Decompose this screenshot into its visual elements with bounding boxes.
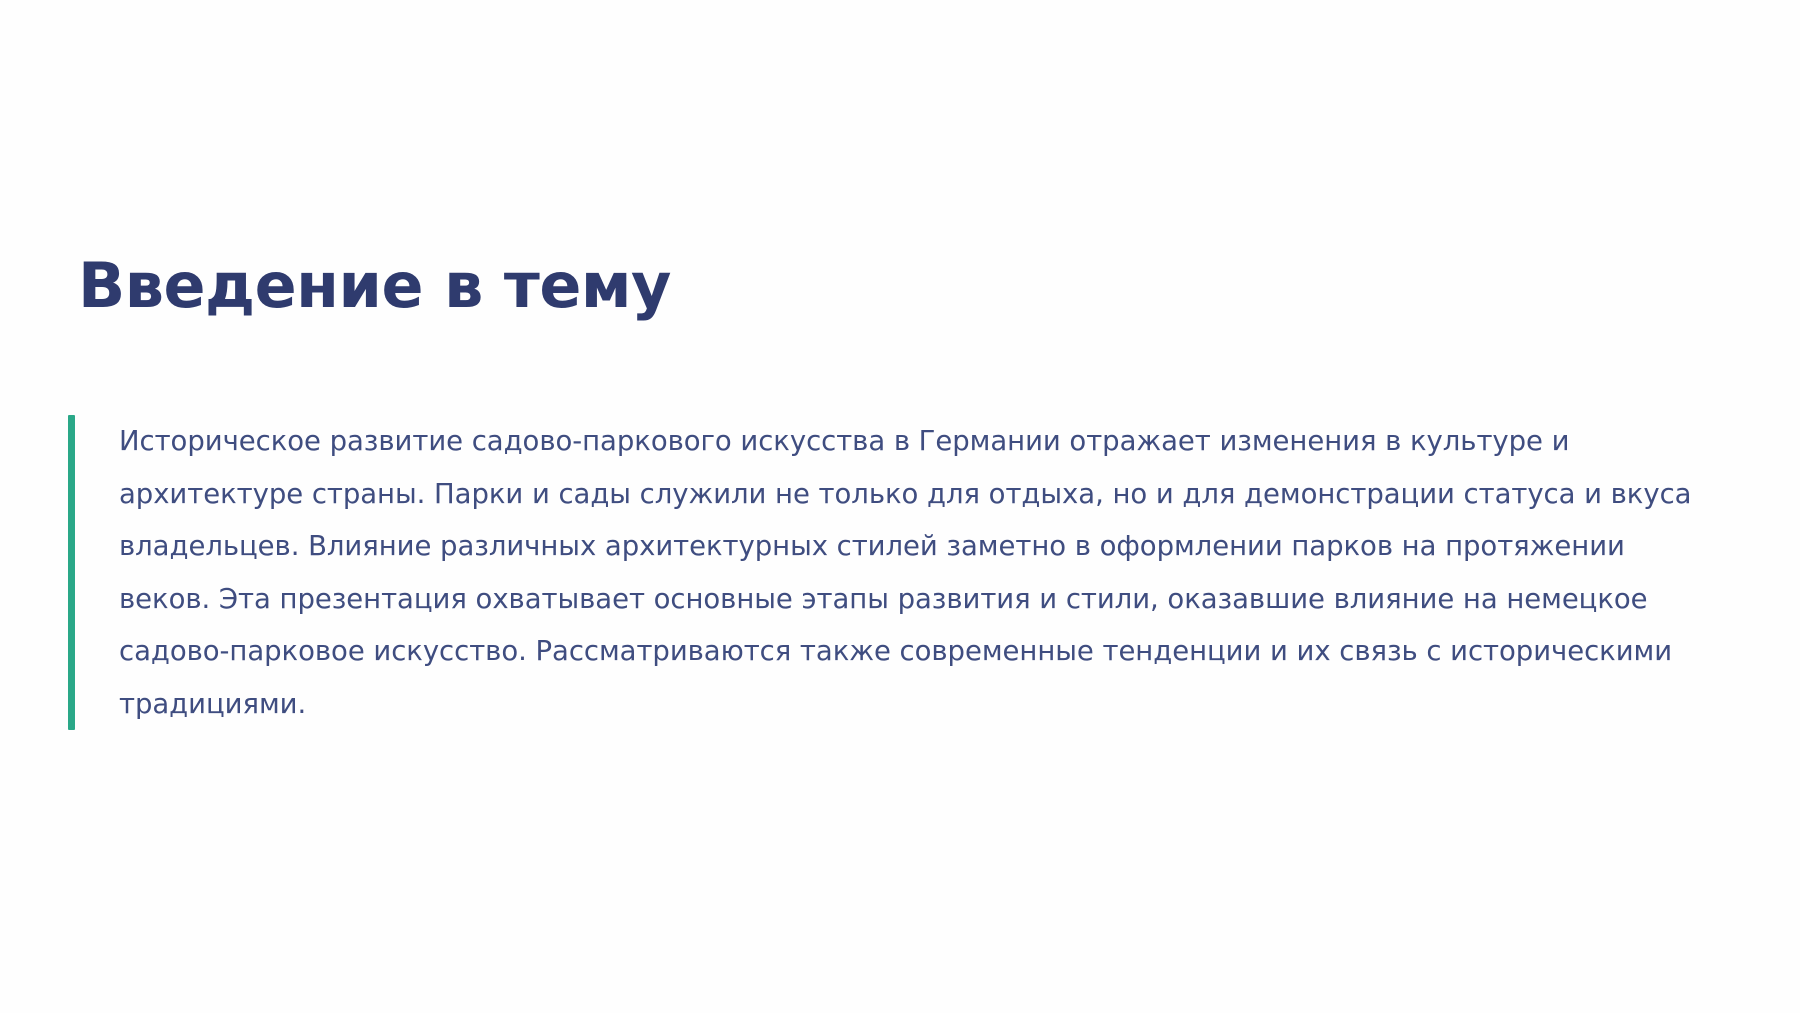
- accent-bar: [68, 415, 75, 730]
- body-quote-block: Историческое развитие садово-паркового и…: [68, 415, 1718, 730]
- page-title: Введение в тему: [78, 253, 671, 318]
- body-paragraph: Историческое развитие садово-паркового и…: [75, 415, 1718, 730]
- presentation-slide: Введение в тему Историческое развитие са…: [0, 0, 1800, 1013]
